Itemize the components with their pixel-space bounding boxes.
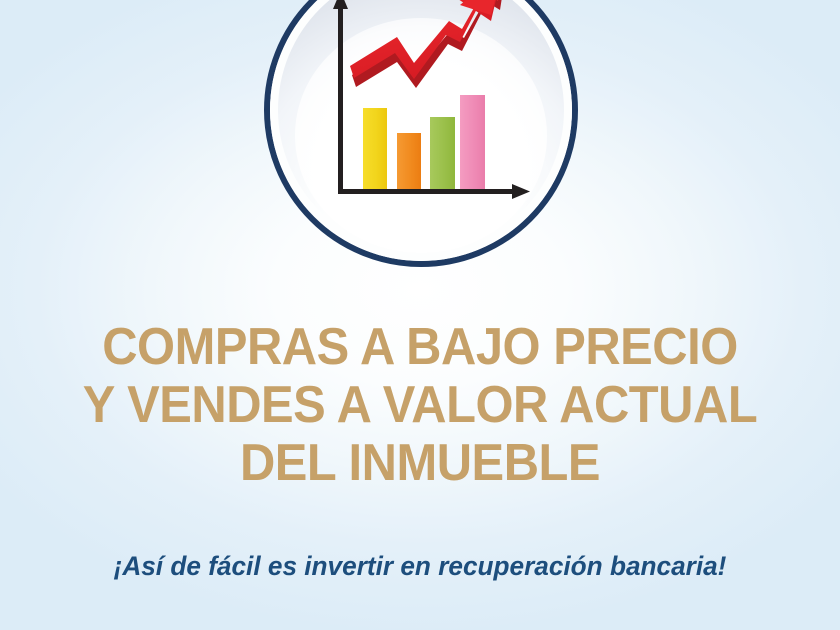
bar-2	[397, 133, 421, 193]
bar-1	[363, 108, 387, 193]
growth-chart-icon: AR	[264, 0, 578, 267]
chart-bars	[363, 95, 485, 193]
circular-badge: AR	[264, 0, 578, 267]
subtitle: ¡Así de fácil es invertir en recuperació…	[13, 549, 828, 583]
headline-line-3: DEL INMUEBLE	[25, 434, 815, 492]
y-axis-arrowhead	[333, 0, 348, 9]
headline-line-1: COMPRAS A BAJO PRECIO	[25, 318, 815, 376]
headline: COMPRAS A BAJO PRECIO Y VENDES A VALOR A…	[25, 318, 815, 492]
bar-4	[460, 95, 485, 193]
bar-3	[430, 117, 455, 193]
x-axis-arrowhead	[512, 184, 530, 199]
headline-line-2: Y VENDES A VALOR ACTUAL	[25, 376, 815, 434]
promotional-poster: AR COMPRAS A BAJO PRECIO Y VENDES A VALO…	[0, 0, 840, 630]
